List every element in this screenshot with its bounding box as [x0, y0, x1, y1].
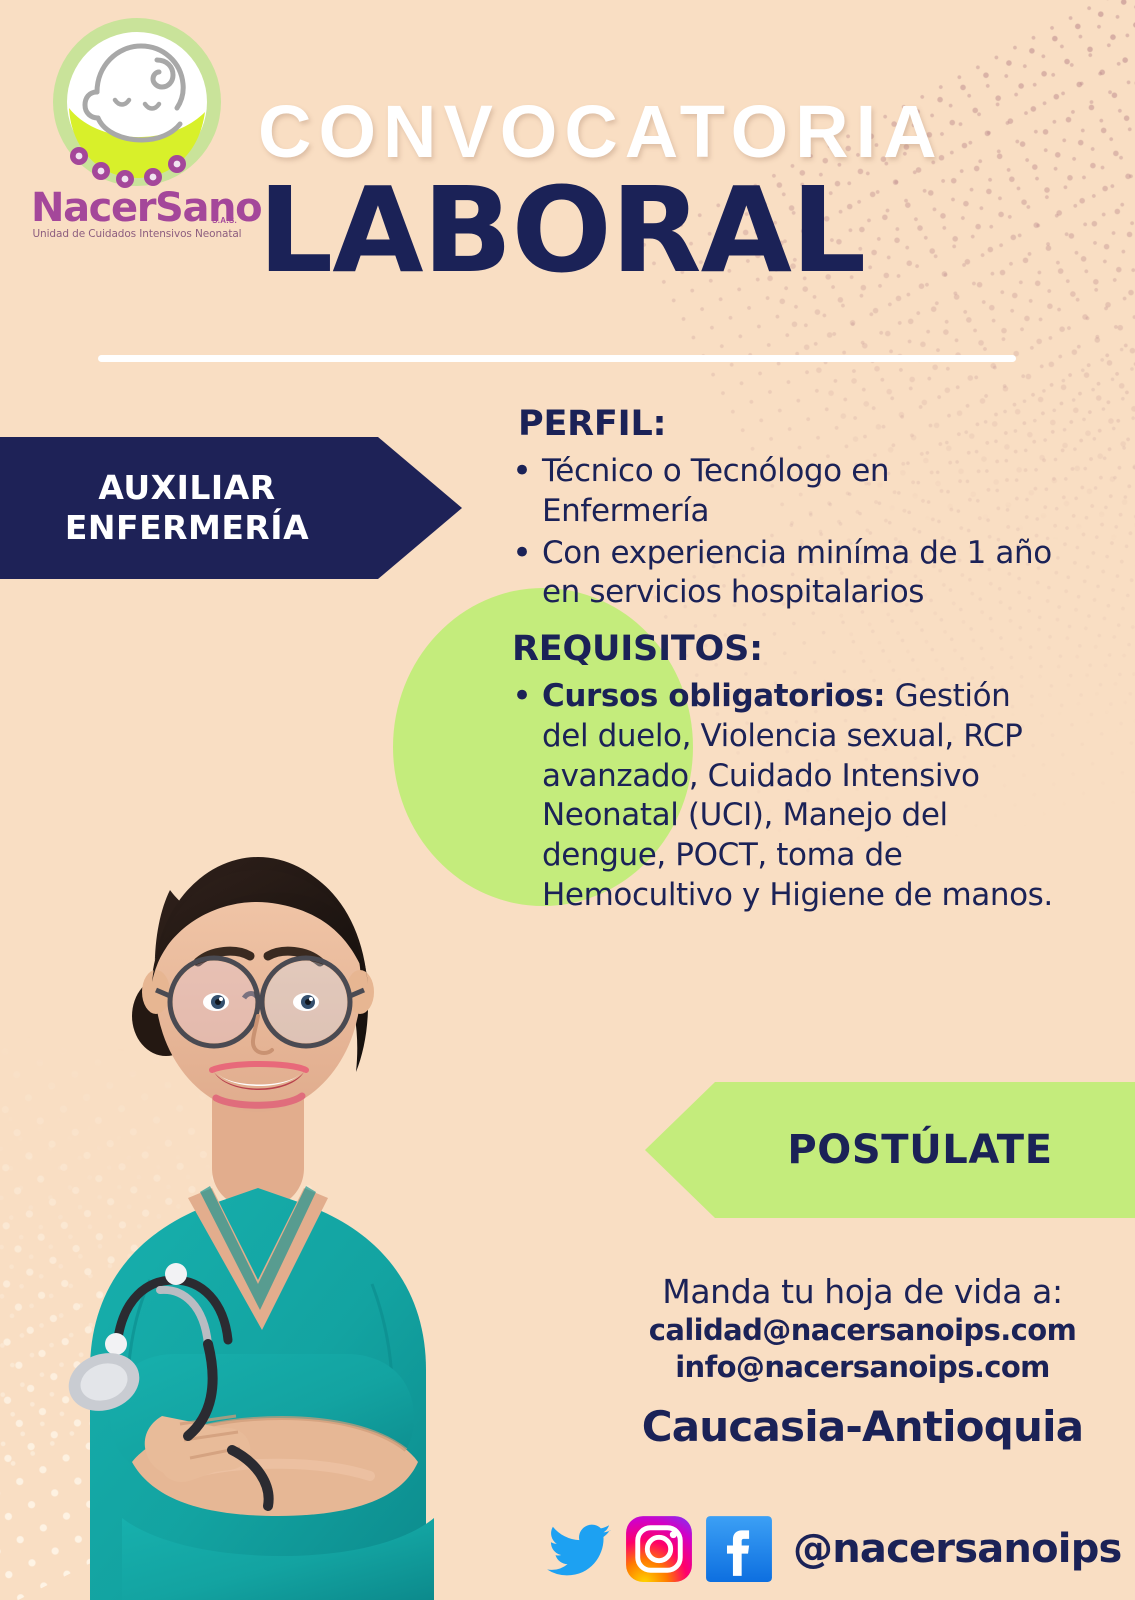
logo-tagline: Unidad de Cuidados Intensivos Neonatal — [31, 228, 243, 240]
page-title: LABORAL — [258, 171, 1108, 289]
contact-block: Manda tu hoja de vida a: calidad@nacersa… — [590, 1272, 1135, 1451]
list-item-lead: Cursos obligatorios: — [542, 678, 885, 714]
contact-email-secondary[interactable]: info@nacersanoips.com — [590, 1349, 1135, 1386]
apply-cta-label: POSTÚLATE — [787, 1127, 1052, 1173]
sleeping-baby-in-leaf-icon — [49, 16, 225, 192]
poster-headline: CONVOCATORIA LABORAL — [258, 96, 1108, 289]
perfil-list: Técnico o Tecnólogo en Enfermería Con ex… — [500, 452, 1060, 613]
headline-eyebrow: CONVOCATORIA — [258, 96, 1108, 167]
requirements-content: PERFIL: Técnico o Tecnólogo en Enfermerí… — [500, 404, 1060, 917]
twitter-icon[interactable] — [545, 1515, 613, 1583]
contact-location: Caucasia-Antioquia — [590, 1402, 1135, 1451]
apply-cta-banner[interactable]: POSTÚLATE — [645, 1082, 1135, 1218]
list-item: Técnico o Tecnólogo en Enfermería — [500, 452, 1060, 531]
header-divider — [98, 355, 1016, 362]
social-handle: @nacersanoips — [793, 1526, 1122, 1572]
nurse-photo — [0, 810, 520, 1600]
list-item: Cursos obligatorios: Gestión del duelo, … — [500, 677, 1060, 915]
role-banner: AUXILIAR ENFERMERÍA — [0, 437, 462, 579]
requisitos-list: Cursos obligatorios: Gestión del duelo, … — [500, 677, 1060, 915]
list-item-text: Con experiencia miníma de 1 año en servi… — [542, 535, 1052, 611]
list-item: Con experiencia miníma de 1 año en servi… — [500, 534, 1060, 613]
section-title-requisitos: REQUISITOS: — [512, 629, 1060, 669]
role-banner-line-1: AUXILIAR — [98, 468, 275, 508]
contact-lead-text: Manda tu hoja de vida a: — [590, 1272, 1135, 1312]
logo-legal-suffix: S.A.S. — [212, 216, 237, 225]
facebook-icon[interactable] — [705, 1515, 773, 1583]
section-title-perfil: PERFIL: — [518, 404, 1060, 444]
role-banner-line-2: ENFERMERÍA — [65, 508, 309, 548]
poster-canvas: NacerSano S.A.S. Unidad de Cuidados Inte… — [0, 0, 1135, 1600]
contact-email-primary[interactable]: calidad@nacersanoips.com — [590, 1312, 1135, 1349]
list-item-text: Técnico o Tecnólogo en Enfermería — [542, 453, 889, 529]
instagram-icon[interactable] — [625, 1515, 693, 1583]
brand-logo: NacerSano S.A.S. Unidad de Cuidados Inte… — [31, 16, 243, 244]
social-row: @nacersanoips — [545, 1506, 1135, 1592]
